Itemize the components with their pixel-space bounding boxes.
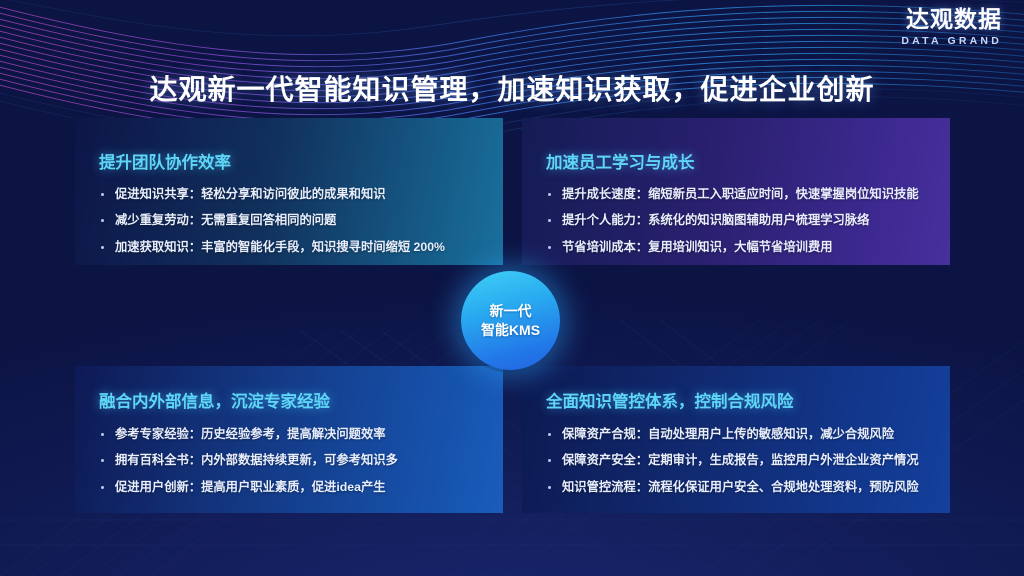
panel-top-left: 提升团队协作效率 促进知识共享：轻松分享和访问彼此的成果和知识 减少重复劳动：无… bbox=[75, 118, 503, 265]
list-item: 保障资产合规：自动处理用户上传的敏感知识，减少合规风险 bbox=[548, 428, 919, 440]
bullet-dot-icon bbox=[548, 219, 551, 222]
list-item-text: 提升个人能力：系统化的知识脑图辅助用户梳理学习脉络 bbox=[562, 214, 869, 226]
list-item-text: 参考专家经验：历史经验参考，提高解决问题效率 bbox=[115, 428, 386, 440]
bullet-dot-icon bbox=[548, 459, 551, 462]
bullet-dot-icon bbox=[548, 193, 551, 196]
bullet-dot-icon bbox=[101, 246, 104, 249]
logo-text-en: DATA GRAND bbox=[901, 36, 1002, 47]
list-item-text: 加速获取知识：丰富的智能化手段，知识搜寻时间缩短 200% bbox=[115, 241, 445, 253]
list-item-text: 拥有百科全书：内外部数据持续更新，可参考知识多 bbox=[115, 454, 398, 466]
bullet-dot-icon bbox=[101, 486, 104, 489]
list-item-text: 促进用户创新：提高用户职业素质，促进idea产生 bbox=[115, 481, 386, 493]
list-item-text: 知识管控流程：流程化保证用户安全、合规地处理资料，预防风险 bbox=[562, 481, 919, 493]
panel-bullet-list: 保障资产合规：自动处理用户上传的敏感知识，减少合规风险 保障资产安全：定期审计，… bbox=[548, 428, 919, 507]
panel-bottom-left: 融合内外部信息，沉淀专家经验 参考专家经验：历史经验参考，提高解决问题效率 拥有… bbox=[75, 366, 503, 513]
list-item: 拥有百科全书：内外部数据持续更新，可参考知识多 bbox=[101, 454, 398, 466]
list-item-text: 提升成长速度：缩短新员工入职适应时间，快速掌握岗位知识技能 bbox=[562, 188, 919, 200]
bullet-dot-icon bbox=[101, 193, 104, 196]
brand-logo: 达观数据 DATA GRAND bbox=[901, 8, 1002, 47]
list-item: 参考专家经验：历史经验参考，提高解决问题效率 bbox=[101, 428, 398, 440]
bullet-dot-icon bbox=[101, 459, 104, 462]
panel-bullet-list: 促进知识共享：轻松分享和访问彼此的成果和知识 减少重复劳动：无需重复回答相同的问… bbox=[101, 188, 445, 265]
list-item-text: 促进知识共享：轻松分享和访问彼此的成果和知识 bbox=[115, 188, 386, 200]
panel-bullet-list: 参考专家经验：历史经验参考，提高解决问题效率 拥有百科全书：内外部数据持续更新，… bbox=[101, 428, 398, 507]
bullet-dot-icon bbox=[548, 433, 551, 436]
list-item: 提升成长速度：缩短新员工入职适应时间，快速掌握岗位知识技能 bbox=[548, 188, 919, 200]
list-item: 减少重复劳动：无需重复回答相同的问题 bbox=[101, 214, 445, 226]
panel-heading: 提升团队协作效率 bbox=[99, 149, 231, 173]
bullet-dot-icon bbox=[101, 433, 104, 436]
center-badge-line1: 新一代 bbox=[490, 302, 532, 320]
list-item-text: 节省培训成本：复用培训知识，大幅节省培训费用 bbox=[562, 241, 833, 253]
center-badge-line2: 智能KMS bbox=[481, 321, 540, 339]
list-item: 促进知识共享：轻松分享和访问彼此的成果和知识 bbox=[101, 188, 445, 200]
list-item: 知识管控流程：流程化保证用户安全、合规地处理资料，预防风险 bbox=[548, 481, 919, 493]
bullet-dot-icon bbox=[548, 486, 551, 489]
list-item-text: 保障资产合规：自动处理用户上传的敏感知识，减少合规风险 bbox=[562, 428, 894, 440]
panel-heading: 全面知识管控体系，控制合规风险 bbox=[546, 388, 794, 412]
page-title: 达观新一代智能知识管理，加速知识获取，促进企业创新 bbox=[0, 68, 1024, 108]
panel-top-right: 加速员工学习与成长 提升成长速度：缩短新员工入职适应时间，快速掌握岗位知识技能 … bbox=[522, 118, 950, 265]
list-item: 节省培训成本：复用培训知识，大幅节省培训费用 bbox=[548, 241, 919, 253]
list-item-text: 保障资产安全：定期审计，生成报告，监控用户外泄企业资产情况 bbox=[562, 454, 919, 466]
bullet-dot-icon bbox=[101, 219, 104, 222]
panel-heading: 融合内外部信息，沉淀专家经验 bbox=[99, 388, 330, 412]
panel-bullet-list: 提升成长速度：缩短新员工入职适应时间，快速掌握岗位知识技能 提升个人能力：系统化… bbox=[548, 188, 919, 265]
center-badge: 新一代 智能KMS bbox=[461, 271, 560, 370]
slide-canvas: 达观数据 DATA GRAND 达观新一代智能知识管理，加速知识获取，促进企业创… bbox=[0, 0, 1024, 576]
list-item: 促进用户创新：提高用户职业素质，促进idea产生 bbox=[101, 481, 398, 493]
list-item: 保障资产安全：定期审计，生成报告，监控用户外泄企业资产情况 bbox=[548, 454, 919, 466]
panel-heading: 加速员工学习与成长 bbox=[546, 149, 695, 173]
bullet-dot-icon bbox=[548, 246, 551, 249]
list-item-text: 减少重复劳动：无需重复回答相同的问题 bbox=[115, 214, 336, 226]
logo-text-cn: 达观数据 bbox=[901, 8, 1002, 31]
panel-bottom-right: 全面知识管控体系，控制合规风险 保障资产合规：自动处理用户上传的敏感知识，减少合… bbox=[522, 366, 950, 513]
list-item: 加速获取知识：丰富的智能化手段，知识搜寻时间缩短 200% bbox=[101, 241, 445, 253]
list-item: 提升个人能力：系统化的知识脑图辅助用户梳理学习脉络 bbox=[548, 214, 919, 226]
